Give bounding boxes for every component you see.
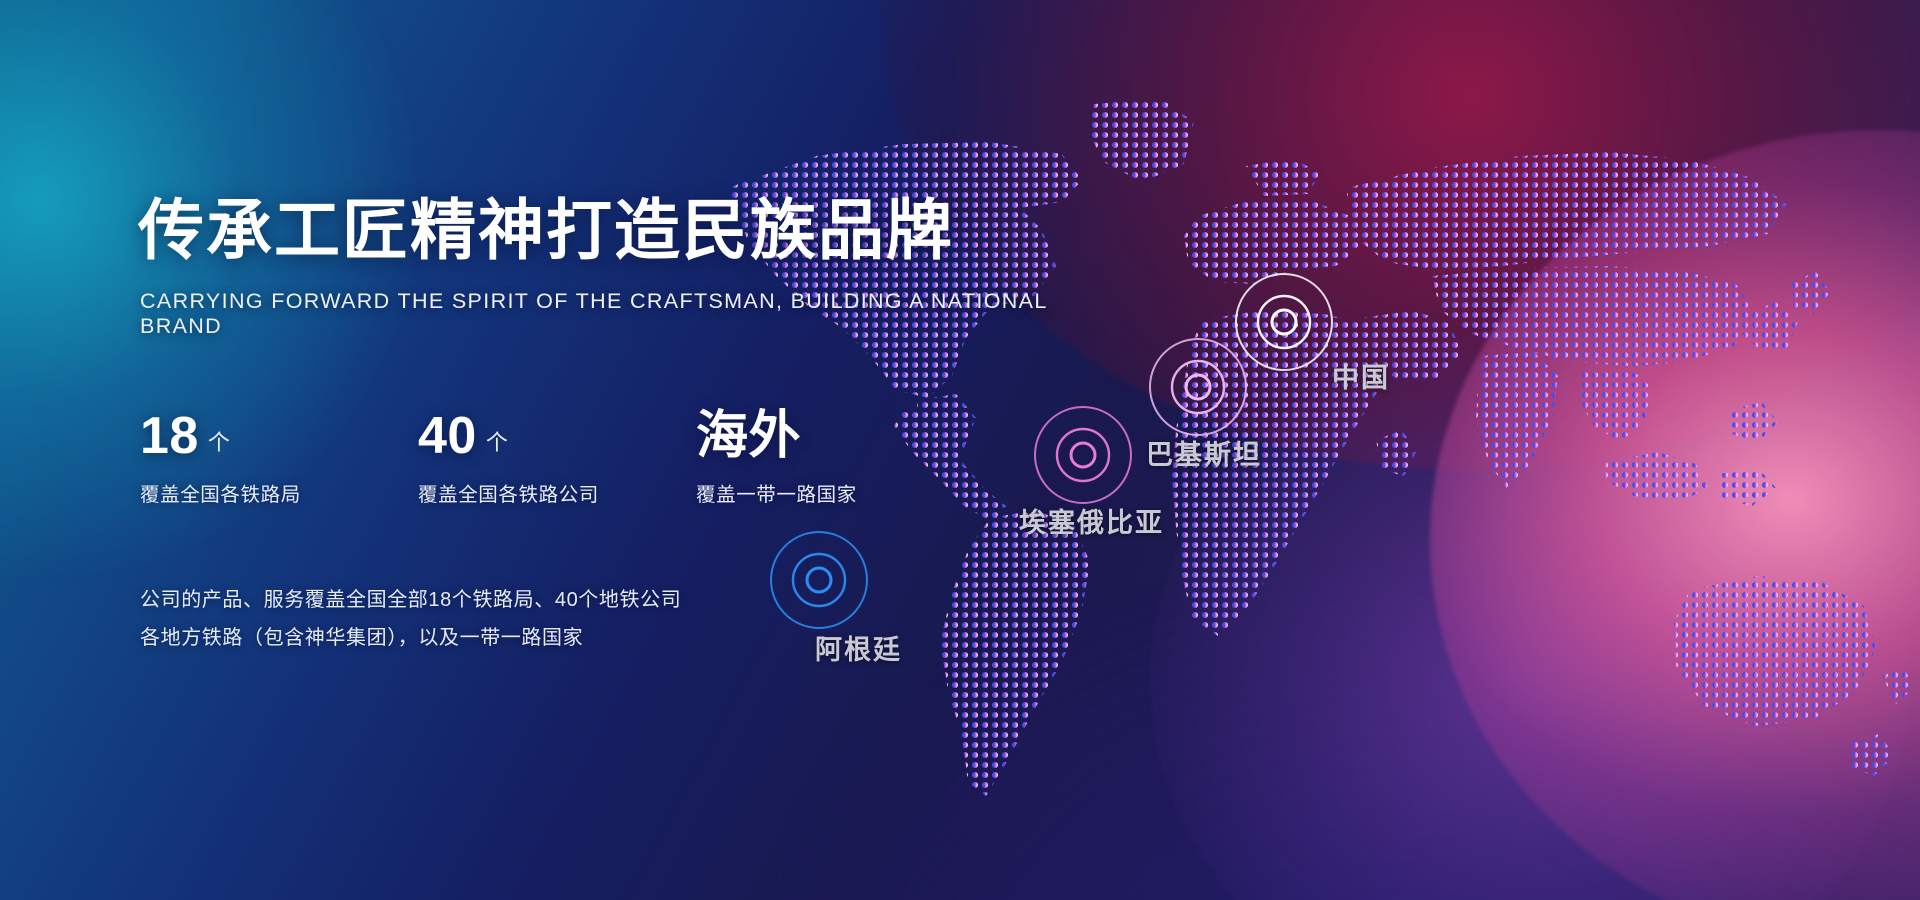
body-copy-line-1: 公司的产品、服务覆盖全国全部18个铁路局、40个地铁公司 xyxy=(140,581,1078,619)
stat-value-group: 海外 xyxy=(696,411,857,462)
stat-description: 覆盖一带一路国家 xyxy=(696,478,857,507)
page-title: 传承工匠精神打造民族品牌 xyxy=(138,196,1078,265)
stat-number: 40 xyxy=(418,411,477,462)
stat-number: 海外 xyxy=(696,411,801,462)
body-copy: 公司的产品、服务覆盖全国全部18个铁路局、40个地铁公司 各地方铁路（包含神华集… xyxy=(140,581,1078,658)
hero-banner: 中国巴基斯坦埃塞俄比亚阿根廷 传承工匠精神打造民族品牌 CARRYING FOR… xyxy=(0,0,1920,900)
stats-row: 18 个 覆盖全国各铁路局 40 个 覆盖全国各铁路公司 海外 覆盖一带一路国家 xyxy=(140,411,1078,507)
body-copy-line-2: 各地方铁路（包含神华集团），以及一带一路国家 xyxy=(140,619,1078,657)
stat-value-group: 18 个 xyxy=(140,411,418,462)
page-subtitle: CARRYING FORWARD THE SPIRIT OF THE CRAFT… xyxy=(140,289,1078,339)
stat-unit: 个 xyxy=(486,425,509,457)
map-label-china: 中国 xyxy=(1332,356,1390,395)
stat-value-group: 40 个 xyxy=(418,411,696,462)
stat-item: 海外 覆盖一带一路国家 xyxy=(696,411,857,507)
stat-description: 覆盖全国各铁路局 xyxy=(140,478,418,507)
stat-description: 覆盖全国各铁路公司 xyxy=(418,478,696,507)
stat-item: 40 个 覆盖全国各铁路公司 xyxy=(418,411,696,507)
map-label-pakistan: 巴基斯坦 xyxy=(1146,433,1262,472)
hero-content: 传承工匠精神打造民族品牌 CARRYING FORWARD THE SPIRIT… xyxy=(138,196,1078,657)
stat-unit: 个 xyxy=(208,425,231,457)
stat-item: 18 个 覆盖全国各铁路局 xyxy=(140,411,418,507)
stat-number: 18 xyxy=(140,411,199,462)
